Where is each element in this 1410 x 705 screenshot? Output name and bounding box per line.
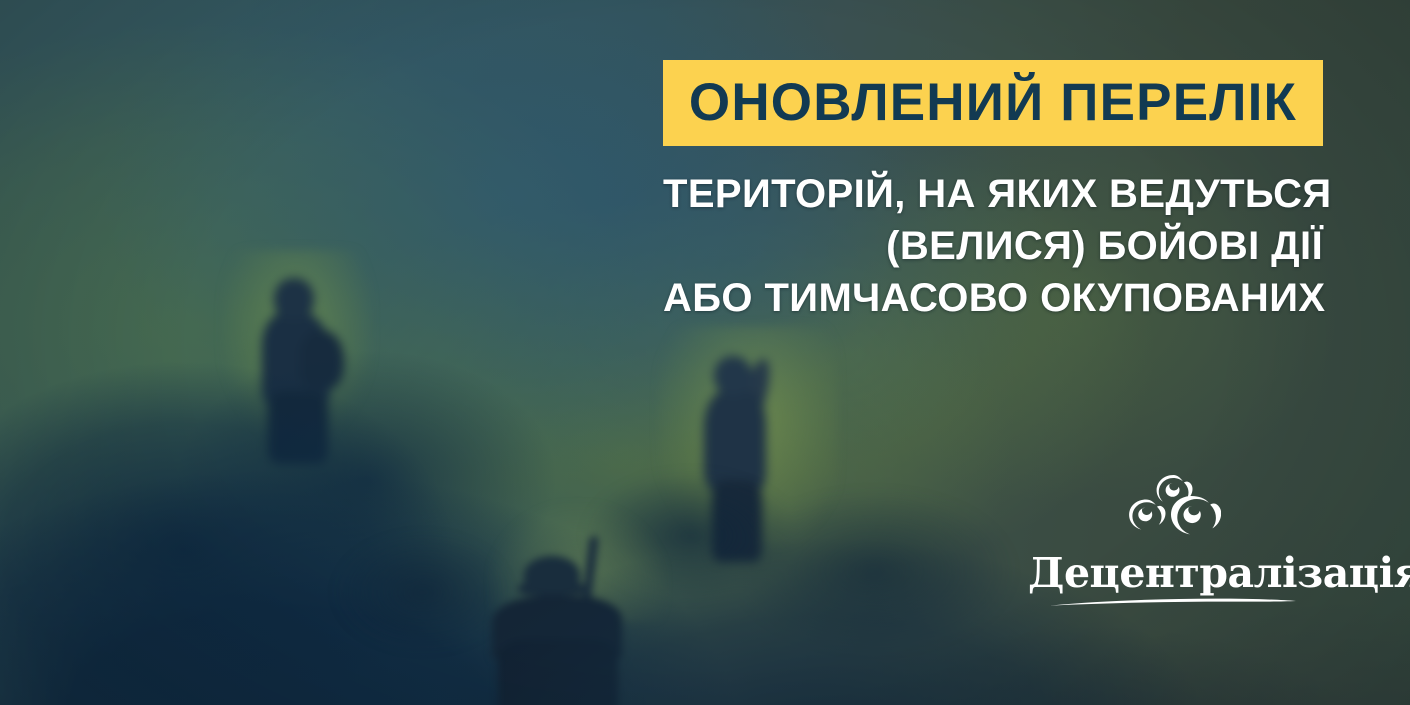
soldier-left-legs: [268, 392, 328, 464]
headline-banner: ОНОВЛЕНИЙ ПЕРЕЛІК: [663, 60, 1323, 146]
soldier-foreground-body: [498, 640, 618, 705]
soldier-foreground-helmet: [524, 556, 580, 594]
soldier-silhouette-center: [692, 352, 802, 562]
soldier-left-head: [274, 278, 314, 320]
headline-block: ОНОВЛЕНИЙ ПЕРЕЛІК ТЕРИТОРІЙ, НА ЯКИХ ВЕД…: [663, 60, 1323, 324]
triskelion-three-figures-icon: [1125, 473, 1221, 545]
logo-underline-swoosh: [1048, 597, 1298, 607]
soldier-center-head: [714, 356, 752, 396]
logo-wordmark: Децентралізація: [1028, 553, 1318, 594]
subheadline-line-2: (ВЕЛИСЯ) БОЙОВІ ДІЇ: [663, 220, 1323, 272]
soldier-silhouette-foreground: [478, 540, 648, 705]
soldier-left-backpack: [300, 330, 344, 390]
soldier-center-torso: [704, 390, 766, 494]
subheadline-line-3: АБО ТИМЧАСОВО ОКУПОВАНИХ: [663, 272, 1323, 324]
subheadline-line-1: ТЕРИТОРІЙ, НА ЯКИХ ВЕДУТЬСЯ: [663, 168, 1323, 220]
soldier-silhouette-left: [248, 272, 344, 462]
poster-canvas: ОНОВЛЕНИЙ ПЕРЕЛІК ТЕРИТОРІЙ, НА ЯКИХ ВЕД…: [0, 0, 1410, 705]
subheadline-block: ТЕРИТОРІЙ, НА ЯКИХ ВЕДУТЬСЯ (ВЕЛИСЯ) БОЙ…: [663, 168, 1323, 324]
soldier-center-legs: [712, 480, 762, 562]
decentralization-logo: Децентралізація: [1028, 473, 1318, 607]
